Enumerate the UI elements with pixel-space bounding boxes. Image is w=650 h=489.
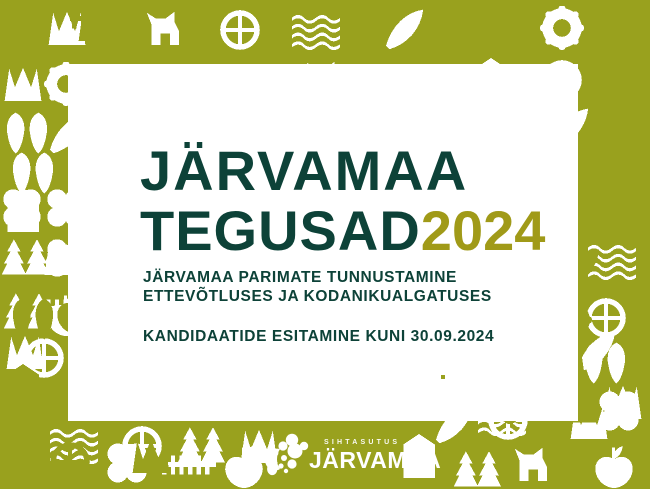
subtitle-line-2: ETTEVÕTLUSES JA KODANIKUALGATUSES	[143, 287, 563, 306]
jarvamaa-emblem-icon	[262, 433, 314, 479]
stray-dot-artifact	[441, 375, 445, 379]
title-year: 2024	[421, 199, 546, 262]
logo-subtitle: SIHTASUTUS	[324, 439, 400, 446]
title-word-tegusad: TEGUSAD	[140, 199, 421, 262]
subtitle-block: JÄRVAMAA PARIMATE TUNNUSTAMINE ETTEVÕTLU…	[143, 268, 563, 346]
organization-logo: SIHTASUTUS JÄRVAMAA	[262, 433, 402, 481]
title-line-1: JÄRVAMAA	[140, 141, 570, 201]
title-block: JÄRVAMAA TEGUSAD2024	[140, 141, 570, 261]
poster-root: JÄRVAMAA TEGUSAD2024 JÄRVAMAA PARIMATE T…	[0, 0, 650, 489]
subtitle-line-1: JÄRVAMAA PARIMATE TUNNUSTAMINE	[143, 268, 563, 287]
title-line-2: TEGUSAD2024	[140, 201, 570, 261]
deadline-text: KANDIDAATIDE ESITAMINE KUNI 30.09.2024	[143, 327, 563, 346]
logo-wordmark: JÄRVAMAA	[309, 447, 441, 474]
